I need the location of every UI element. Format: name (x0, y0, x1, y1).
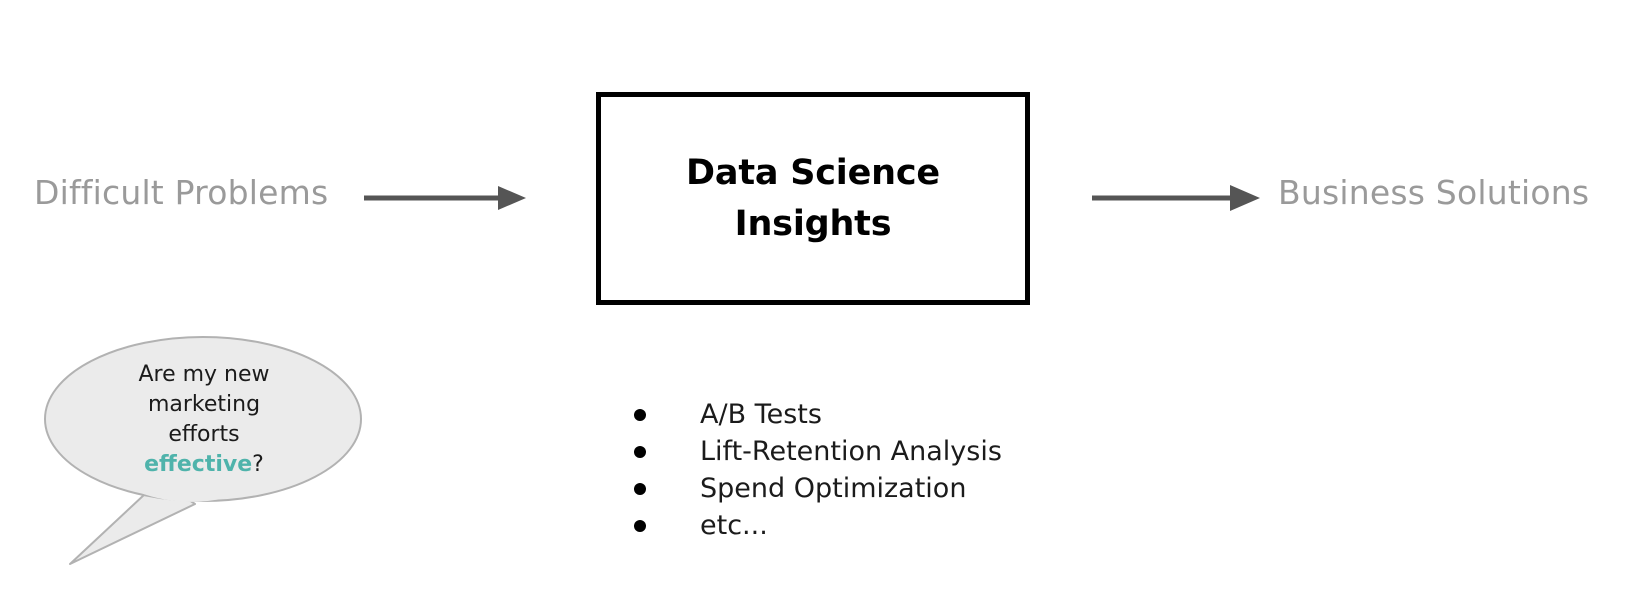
input-label: Difficult Problems (34, 176, 328, 209)
bullet-dot-icon (634, 520, 646, 532)
list-item-label: Spend Optimization (700, 473, 966, 504)
list-item: etc... (600, 507, 1002, 544)
bubble-line-3: efforts (41, 420, 367, 450)
diagram-canvas: Difficult Problems Data Science Insights… (0, 0, 1648, 614)
speech-bubble: Are my new marketing efforts effective? (30, 332, 370, 572)
insight-list: A/B Tests Lift-Retention Analysis Spend … (600, 396, 1002, 544)
process-box-title: Data Science Insights (686, 148, 940, 250)
list-item: A/B Tests (600, 396, 1002, 433)
bubble-line-1: Are my new (41, 360, 367, 390)
arrow-process-to-output (1088, 180, 1264, 216)
bubble-line-4: effective? (41, 450, 367, 480)
bubble-trailing-punctuation: ? (252, 452, 264, 477)
bubble-line-2: marketing (41, 390, 367, 420)
list-item: Spend Optimization (600, 470, 1002, 507)
output-label: Business Solutions (1278, 176, 1589, 209)
list-item-label: A/B Tests (700, 399, 822, 430)
speech-bubble-text: Are my new marketing efforts effective? (41, 360, 367, 480)
process-box[interactable]: Data Science Insights (596, 92, 1030, 305)
arrow-input-to-process (360, 180, 530, 216)
bullet-dot-icon (634, 446, 646, 458)
bubble-highlight-word: effective (144, 452, 252, 477)
list-item: Lift-Retention Analysis (600, 433, 1002, 470)
list-item-label: etc... (700, 510, 768, 541)
bullet-dot-icon (634, 409, 646, 421)
bullet-dot-icon (634, 483, 646, 495)
list-item-label: Lift-Retention Analysis (700, 436, 1002, 467)
